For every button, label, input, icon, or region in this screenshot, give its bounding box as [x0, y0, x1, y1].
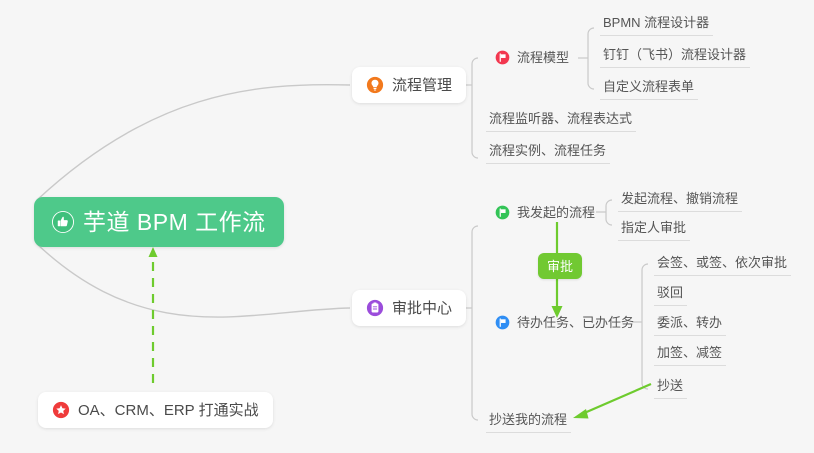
- flag-icon: [495, 50, 510, 65]
- clipboard-icon: [366, 299, 384, 317]
- footer-node-integration-practice[interactable]: OA、CRM、ERP 打通实战: [38, 392, 273, 428]
- leaf-label-reject: 驳回: [657, 286, 683, 299]
- leaf-reject[interactable]: 驳回: [654, 279, 687, 306]
- branch-node-process-management[interactable]: 流程管理: [352, 67, 466, 103]
- leaf-todo-done-tasks[interactable]: 待办任务、已办任务: [492, 309, 638, 336]
- callout-approve-label: 审批: [547, 260, 573, 273]
- leaf-label-add-remove-sign: 加签、减签: [657, 346, 722, 359]
- leaf-process-listener[interactable]: 流程监听器、流程表达式: [486, 105, 636, 132]
- leaf-process-instance[interactable]: 流程实例、流程任务: [486, 137, 610, 164]
- thumbs-up-icon: [52, 211, 74, 233]
- leaf-label-dingtalk-designer: 钉钉（飞书）流程设计器: [603, 48, 746, 61]
- leaf-label-countersign: 会签、或签、依次审批: [657, 256, 787, 269]
- leaf-countersign[interactable]: 会签、或签、依次审批: [654, 249, 791, 276]
- leaf-label-start-cancel-process: 发起流程、撤销流程: [621, 192, 738, 205]
- leaf-process-model[interactable]: 流程模型: [492, 44, 573, 71]
- leaf-cc-to-me-process[interactable]: 抄送我的流程: [486, 406, 571, 433]
- flag-icon: [495, 205, 510, 220]
- leaf-label-process-model: 流程模型: [517, 51, 569, 64]
- mindmap-canvas: 芋道 BPM 工作流 流程管理 流程模型 BPMN 流程设计器 钉钉（飞书）流程: [0, 0, 814, 453]
- leaf-cc[interactable]: 抄送: [654, 372, 687, 399]
- leaf-label-bpmn-designer: BPMN 流程设计器: [603, 16, 709, 29]
- leaf-start-cancel-process[interactable]: 发起流程、撤销流程: [618, 185, 742, 212]
- leaf-assignee-approval[interactable]: 指定人审批: [618, 214, 690, 241]
- leaf-label-assignee-approval: 指定人审批: [621, 221, 686, 234]
- leaf-my-started-process[interactable]: 我发起的流程: [492, 199, 599, 226]
- leaf-bpmn-designer[interactable]: BPMN 流程设计器: [600, 9, 713, 36]
- leaf-label-custom-form: 自定义流程表单: [603, 80, 694, 93]
- flag-icon: [495, 315, 510, 330]
- footer-node-label: OA、CRM、ERP 打通实战: [78, 403, 259, 418]
- leaf-label-todo-done-tasks: 待办任务、已办任务: [517, 316, 634, 329]
- leaf-delegate-transfer[interactable]: 委派、转办: [654, 309, 726, 336]
- leaf-label-cc-to-me-process: 抄送我的流程: [489, 413, 567, 426]
- lightbulb-icon: [366, 76, 384, 94]
- root-node[interactable]: 芋道 BPM 工作流: [34, 197, 284, 247]
- leaf-add-remove-sign[interactable]: 加签、减签: [654, 339, 726, 366]
- leaf-label-my-started-process: 我发起的流程: [517, 206, 595, 219]
- leaf-custom-form[interactable]: 自定义流程表单: [600, 73, 698, 100]
- branch-label-approval-center: 审批中心: [392, 301, 452, 316]
- leaf-label-delegate-transfer: 委派、转办: [657, 316, 722, 329]
- branch-node-approval-center[interactable]: 审批中心: [352, 290, 466, 326]
- leaf-label-process-instance: 流程实例、流程任务: [489, 144, 606, 157]
- branch-label-process-management: 流程管理: [392, 78, 452, 93]
- leaf-label-cc: 抄送: [657, 379, 683, 392]
- leaf-label-process-listener: 流程监听器、流程表达式: [489, 112, 632, 125]
- leaf-dingtalk-designer[interactable]: 钉钉（飞书）流程设计器: [600, 41, 750, 68]
- star-icon: [52, 401, 70, 419]
- root-label: 芋道 BPM 工作流: [83, 211, 266, 234]
- callout-approve-chip[interactable]: 审批: [538, 253, 582, 279]
